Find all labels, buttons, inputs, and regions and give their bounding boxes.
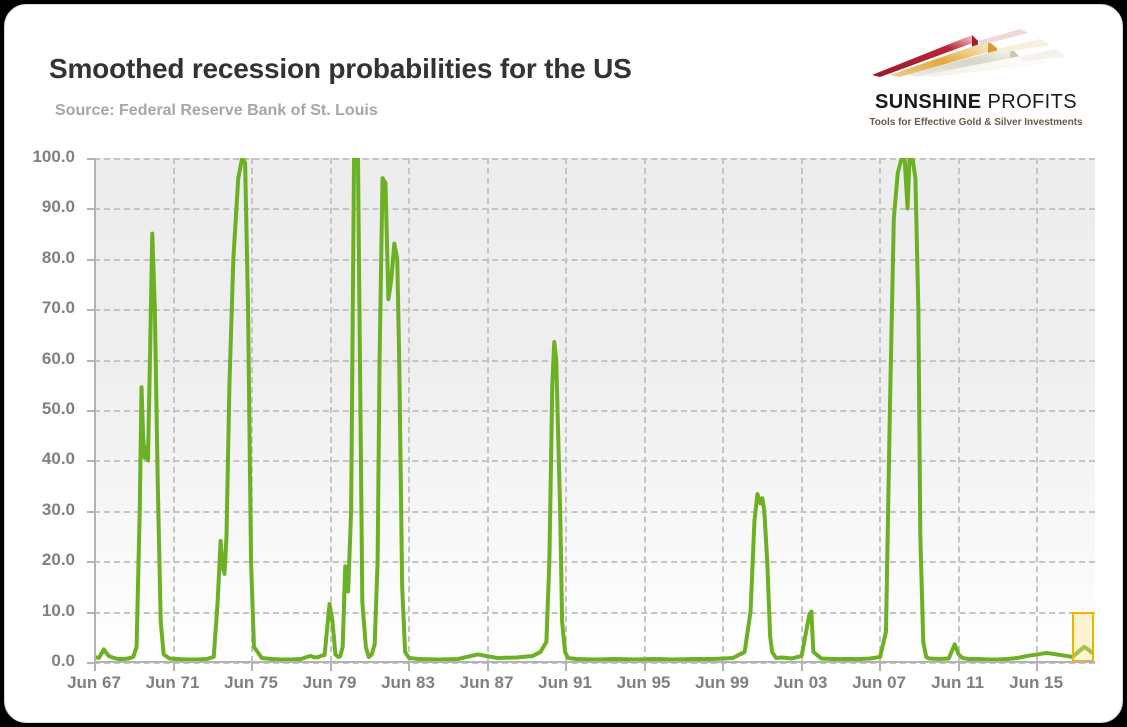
y-axis-tick-mark [87, 158, 95, 160]
logo-word-sunshine: SUNSHINE [875, 91, 982, 113]
y-axis-tick-mark [87, 208, 95, 210]
chart-card: Smoothed recession probabilities for the… [4, 4, 1123, 723]
y-axis-tick-mark [87, 360, 95, 362]
x-axis-tick-mark [722, 663, 724, 671]
x-axis-tick-mark [173, 663, 175, 671]
x-axis-tick-mark [330, 663, 332, 671]
x-axis-tick-mark [487, 663, 489, 671]
y-axis-tick-mark [87, 612, 95, 614]
x-axis-tick-mark [958, 663, 960, 671]
y-axis-tick-mark [87, 410, 95, 412]
sunshine-profits-logo: SUNSHINE PROFITS Tools for Effective Gol… [860, 17, 1092, 129]
x-axis-tick-mark [251, 663, 253, 671]
y-axis-tick-label: 30.0 [5, 500, 75, 520]
logo-wordmark: SUNSHINE PROFITS [860, 91, 1092, 114]
logo-word-profits: PROFITS [988, 91, 1077, 113]
y-axis-tick-label: 100.0 [5, 147, 75, 167]
y-axis-tick-label: 90.0 [5, 197, 75, 217]
recent-period-highlight [1072, 612, 1094, 662]
y-axis-tick-mark [87, 309, 95, 311]
x-axis-tick-mark [94, 663, 96, 671]
y-axis-tick-label: 80.0 [5, 248, 75, 268]
x-axis-tick-mark [879, 663, 881, 671]
y-axis-tick-label: 40.0 [5, 449, 75, 469]
page-title: Smoothed recession probabilities for the… [49, 53, 632, 85]
y-axis-tick-mark [87, 561, 95, 563]
x-axis-tick-mark [801, 663, 803, 671]
y-axis-tick-label: 0.0 [5, 651, 75, 671]
sunburst-arrow-icon [860, 19, 1092, 81]
x-axis-tick-label: Jun 15 [976, 673, 1096, 693]
y-axis-tick-mark [87, 259, 95, 261]
x-axis-tick-mark [408, 663, 410, 671]
x-axis-tick-mark [1036, 663, 1038, 671]
x-axis-tick-mark [565, 663, 567, 671]
x-axis-tick-mark [644, 663, 646, 671]
chart-source-subtitle: Source: Federal Reserve Bank of St. Loui… [55, 102, 378, 120]
recession-probability-line [94, 158, 1095, 662]
y-axis-tick-mark [87, 460, 95, 462]
logo-tagline: Tools for Effective Gold & Silver Invest… [860, 117, 1092, 128]
y-axis-tick-label: 10.0 [5, 601, 75, 621]
y-axis-tick-label: 70.0 [5, 298, 75, 318]
y-axis-tick-mark [87, 511, 95, 513]
y-axis-tick-label: 60.0 [5, 349, 75, 369]
y-axis-tick-label: 50.0 [5, 399, 75, 419]
plot-area [94, 158, 1095, 662]
x-axis-line [94, 661, 1095, 663]
y-axis-tick-label: 20.0 [5, 550, 75, 570]
